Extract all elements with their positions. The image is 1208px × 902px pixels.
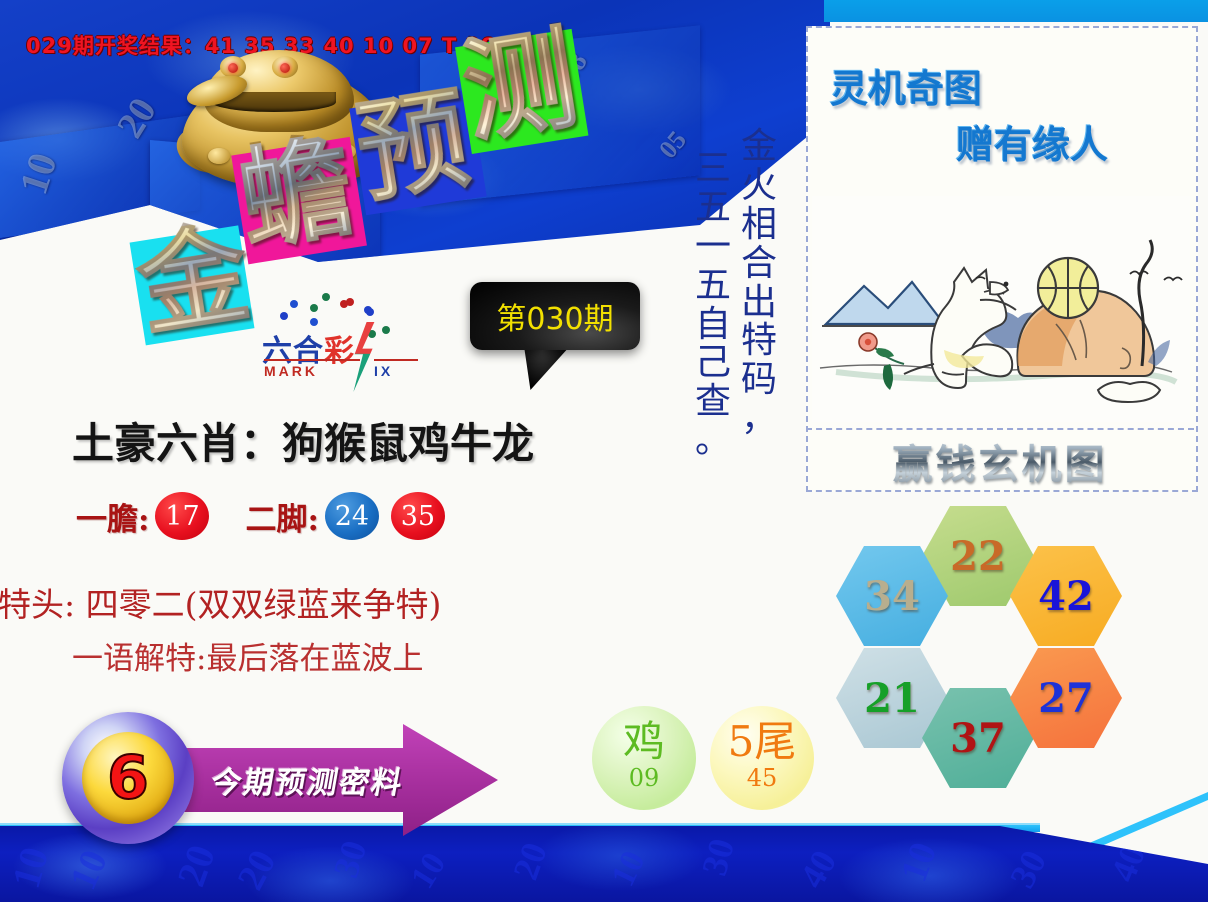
hexagon-value: 34 [864,573,920,620]
jiao-ball-1: 24 [325,492,379,540]
hexagon-number-grid: 22 34 42 21 37 27 [828,506,1128,788]
logo-dot [366,308,374,316]
couplet-char: 三 [690,150,736,189]
issue-badge: 第030期 [470,282,640,350]
zodiac-prediction-line: 土豪六肖：狗猴鼠鸡牛龙 [72,410,534,471]
logo-dot [310,304,318,312]
confetti-dot [322,293,330,301]
couplet-char: 出 [736,284,782,323]
issue-badge-tail [524,346,570,390]
title-char-4: 测 [456,22,584,150]
couplet-left-column: 三 五 一 五 自 己 查 。 [690,150,736,461]
background-cyan-top-strip [824,0,1208,22]
bubble-small-label: 45 [747,763,778,794]
couplet-char: 查 [690,383,736,422]
jiao-label: 二脚: [245,494,318,539]
couplet-char: 五 [690,267,736,306]
marksix-en-left: MARK [264,363,318,379]
mystic-illustration [812,196,1190,422]
mystic-footer-label: 赢钱玄机图 [893,432,1108,490]
hexagon-value: 27 [1038,675,1094,722]
bubble-big-label: 5尾 [728,721,797,763]
couplet-char: 特 [736,322,782,361]
couplet-char: 己 [690,344,736,383]
marksix-cn-3: 彩 [324,334,355,369]
marksix-rule-left [264,359,360,361]
couplet-char: 五 [690,189,736,228]
hexagon-value: 22 [950,533,1006,580]
logo-dot [382,326,390,334]
couplet-char: 。 [690,422,736,461]
couplet-char: 自 [690,306,736,345]
marksix-en-right: IX [374,363,393,379]
prediction-arrow-banner[interactable]: 今期预测密料 [178,724,498,836]
confetti-dot [290,300,298,308]
zodiac-bubble-rooster: 鸡 09 [592,706,696,810]
couplet-char: 金 [736,128,782,167]
couplet-right-column: 金 火 相 合 出 特 码 ， [736,128,782,439]
poster-canvas: 10 20 20 08 05 10 10 20 20 30 10 20 10 3… [0,0,1208,902]
confetti-dot [310,318,318,326]
dan-jiao-row: 一膽: 17 二脚: 24 35 [76,492,451,540]
arrow-banner-label: 今期预测密料 [208,758,408,802]
logo-dot [280,312,288,320]
title-char-1: 金 [130,217,256,343]
bubble-small-label: 09 [629,763,660,794]
mark-six-logo: 六合彩 MARK IX [262,326,422,392]
jiao-ball-2: 35 [391,492,445,540]
dan-label: 一膽: [76,494,149,539]
mystic-chart-heading: 灵机奇图 赠有缘人 [822,52,1182,192]
couplet-char: ， [736,400,782,439]
ball-6-number: 6 [107,748,149,808]
hexagon-value: 37 [950,715,1006,762]
title-char-2: 蟾 [232,130,360,258]
couplet-char: 一 [690,228,736,267]
title-char-3: 预 [350,83,476,209]
couplet-char: 码 [736,361,782,400]
couplet-char: 合 [736,245,782,284]
jiete-line: 一语解特:最后落在蓝波上 [72,633,423,678]
bubble-big-label: 鸡 [623,721,665,763]
lottery-ball-6: 6 [62,712,194,844]
hexagon-value: 42 [1038,573,1094,620]
dan-ball: 17 [155,492,209,540]
couplet-char: 相 [736,206,782,245]
marksix-rule-right [374,359,418,361]
hexagon-value: 21 [864,675,920,722]
mystic-heading-line-2: 赠有缘人 [956,114,1108,169]
mystic-chart-footer: 赢钱玄机图 [806,428,1194,492]
mystic-heading-line-1: 灵机奇图 [830,58,982,113]
issue-badge-label: 第030期 [496,294,613,338]
couplet-char: 火 [736,167,782,206]
background-blue-bottom: 10 10 20 20 30 10 20 10 30 40 10 30 40 [0,826,1208,902]
tetou-line: 特头: 四零二(双双绿蓝来争特) [0,578,441,626]
tail-bubble: 5尾 45 [710,706,814,810]
logo-dot [340,300,348,308]
